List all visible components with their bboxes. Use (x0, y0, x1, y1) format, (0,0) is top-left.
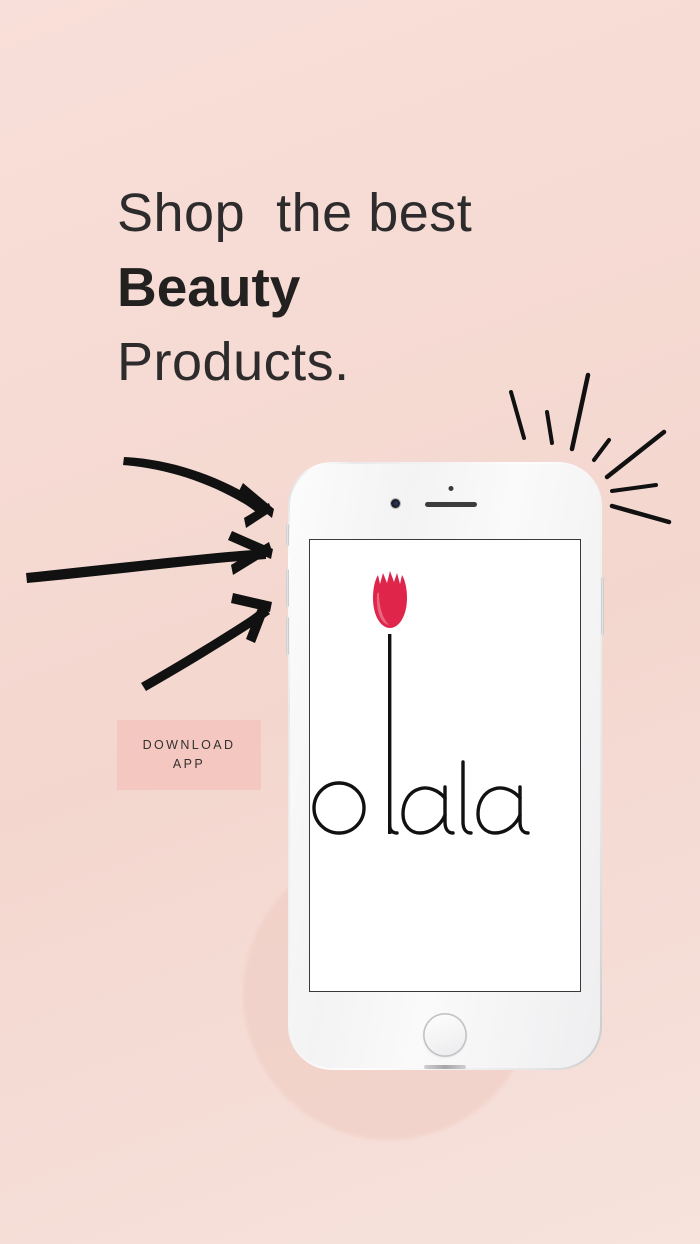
download-app-label-line1: DOWNLOAD (143, 736, 236, 755)
headline-line-1: Shop the best (117, 186, 637, 240)
logo-wordmark (314, 762, 528, 833)
sparkle-ray-5 (607, 432, 664, 477)
proximity-sensor-icon (449, 486, 454, 491)
olala-app-logo (310, 540, 581, 992)
front-camera-icon (391, 499, 400, 508)
sparkle-ray-7 (612, 506, 669, 522)
download-app-button[interactable]: DOWNLOAD APP (117, 720, 261, 790)
speaker-grille-icon (425, 502, 477, 507)
headline-line-2: Beauty (117, 260, 637, 315)
sparkle-ray-1 (511, 392, 524, 438)
phone-screen[interactable] (309, 539, 581, 992)
arrow-top-icon (123, 457, 266, 517)
logo-stem (388, 634, 391, 834)
sparkle-ray-6 (612, 485, 656, 491)
volume-up-button[interactable] (286, 569, 289, 607)
bottom-speaker-icon (424, 1065, 466, 1069)
power-button[interactable] (601, 577, 604, 635)
page-title: Shop the best Beauty Products. (117, 186, 637, 389)
volume-down-button[interactable] (286, 617, 289, 655)
headline-line-3: Products. (117, 335, 637, 389)
arrow-bottom-icon (141, 606, 270, 691)
sparkle-ray-4 (594, 440, 609, 460)
download-app-label-line2: APP (173, 755, 205, 774)
arrow-middle-icon (26, 549, 266, 583)
arrow-top-head-icon (239, 483, 274, 528)
poster-canvas: Shop the best Beauty Products. DOWNLOAD … (0, 0, 700, 1244)
home-button[interactable] (423, 1013, 467, 1057)
mute-switch-button[interactable] (286, 524, 289, 546)
tulip-flower-icon (373, 571, 407, 628)
sparkle-ray-2 (547, 412, 552, 443)
arrow-bottom-head-icon (231, 593, 272, 643)
arrow-middle-head-icon (228, 531, 273, 575)
phone-mockup (288, 462, 602, 1070)
